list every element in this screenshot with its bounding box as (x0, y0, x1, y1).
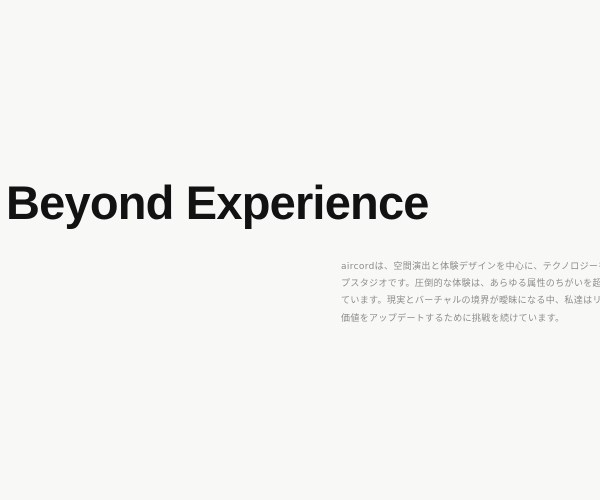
body-copy-line: プスタジオです。圧倒的な体験は、あらゆる属性のちがいを超え (341, 276, 600, 293)
page-title: Beyond Experience (6, 174, 429, 232)
body-copy-line: ています。現実とバーチャルの境界が曖昧になる中、私達はリア (341, 293, 600, 310)
body-copy-block: aircordは、空間演出と体験デザインを中心に、テクノロジーを用い プスタジオ… (341, 259, 600, 328)
page-root: Beyond Experience aircordは、空間演出と体験デザインを中… (0, 0, 600, 500)
body-copy-line: 価値をアップデートするために挑戦を続けています。 (341, 311, 600, 328)
body-copy-line: aircordは、空間演出と体験デザインを中心に、テクノロジーを用い (341, 259, 600, 276)
